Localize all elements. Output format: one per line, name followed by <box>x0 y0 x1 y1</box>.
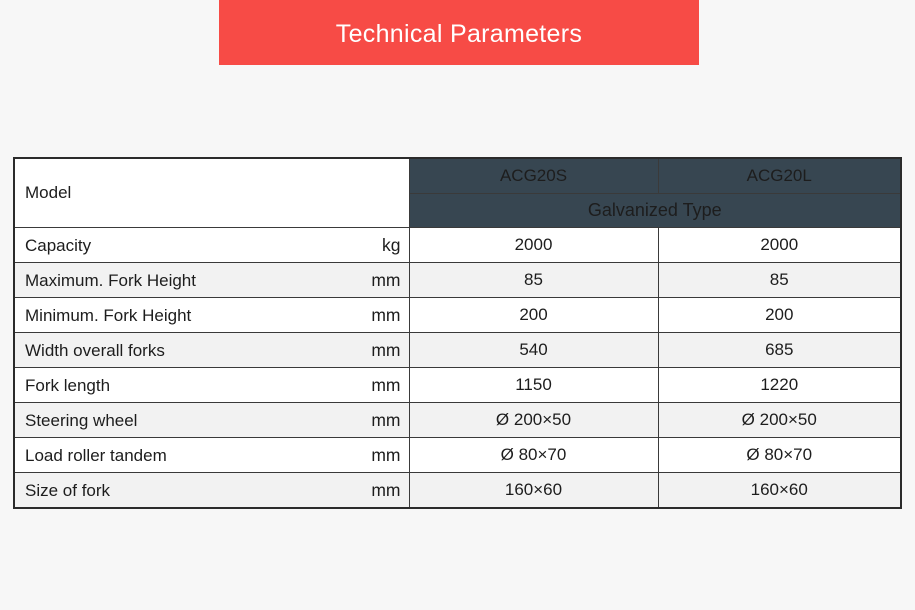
row-label-cell: Fork lengthmm <box>14 368 409 403</box>
row-label: Steering wheel <box>25 411 137 431</box>
row-unit: mm <box>371 305 400 326</box>
page-title: Technical Parameters <box>336 18 582 47</box>
row-label-cell: Capacitykg <box>14 228 409 263</box>
row-label: Load roller tandem <box>25 446 167 466</box>
row-label-cell: Minimum. Fork Heightmm <box>14 298 409 333</box>
table-row: Load roller tandemmmØ 80×70Ø 80×70 <box>14 438 901 473</box>
row-label-cell: Width overall forksmm <box>14 333 409 368</box>
row-value-cell: Ø 80×70 <box>409 438 658 473</box>
header-cell-model-acg20s: ACG20S <box>409 158 658 194</box>
row-value-cell: 685 <box>658 333 901 368</box>
table-body: Capacitykg20002000Maximum. Fork Heightmm… <box>14 228 901 509</box>
row-value-cell: 1220 <box>658 368 901 403</box>
header-cell-model-acg20l: ACG20L <box>658 158 901 194</box>
row-label: Width overall forks <box>25 341 165 361</box>
row-label: Size of fork <box>25 481 110 501</box>
table-row: Capacitykg20002000 <box>14 228 901 263</box>
row-value-cell: 160×60 <box>409 473 658 509</box>
row-unit: mm <box>371 410 400 431</box>
table-row: Steering wheelmmØ 200×50Ø 200×50 <box>14 403 901 438</box>
row-value-cell: Ø 80×70 <box>658 438 901 473</box>
row-unit: mm <box>371 375 400 396</box>
row-value-cell: 85 <box>409 263 658 298</box>
specifications-table-container: Model ACG20S ACG20L Galvanized Type Capa… <box>13 157 900 509</box>
table-row: Minimum. Fork Heightmm200200 <box>14 298 901 333</box>
table-row: Maximum. Fork Heightmm8585 <box>14 263 901 298</box>
row-value-cell: Ø 200×50 <box>409 403 658 438</box>
row-label: Minimum. Fork Height <box>25 306 191 326</box>
technical-parameters-table: Model ACG20S ACG20L Galvanized Type Capa… <box>13 157 902 509</box>
page-title-banner: Technical Parameters <box>219 0 699 65</box>
table-row: Width overall forksmm540685 <box>14 333 901 368</box>
table-header-row-models: Model ACG20S ACG20L <box>14 158 901 194</box>
header-cell-model: Model <box>14 158 409 228</box>
row-unit: mm <box>371 480 400 501</box>
table-row: Size of forkmm160×60160×60 <box>14 473 901 509</box>
row-value-cell: 200 <box>409 298 658 333</box>
header-cell-galvanized-type: Galvanized Type <box>409 194 901 228</box>
row-value-cell: 2000 <box>409 228 658 263</box>
row-value-cell: 160×60 <box>658 473 901 509</box>
row-value-cell: 200 <box>658 298 901 333</box>
row-unit: mm <box>371 445 400 466</box>
row-value-cell: Ø 200×50 <box>658 403 901 438</box>
row-label-cell: Steering wheelmm <box>14 403 409 438</box>
row-value-cell: 540 <box>409 333 658 368</box>
table-header: Model ACG20S ACG20L Galvanized Type <box>14 158 901 228</box>
row-label-cell: Maximum. Fork Heightmm <box>14 263 409 298</box>
row-unit: kg <box>382 235 400 256</box>
row-value-cell: 1150 <box>409 368 658 403</box>
row-value-cell: 85 <box>658 263 901 298</box>
row-value-cell: 2000 <box>658 228 901 263</box>
row-label: Fork length <box>25 376 110 396</box>
row-label: Maximum. Fork Height <box>25 271 196 291</box>
row-label-cell: Size of forkmm <box>14 473 409 509</box>
table-row: Fork lengthmm11501220 <box>14 368 901 403</box>
row-unit: mm <box>371 270 400 291</box>
row-label: Capacity <box>25 236 91 256</box>
row-unit: mm <box>371 340 400 361</box>
row-label-cell: Load roller tandemmm <box>14 438 409 473</box>
